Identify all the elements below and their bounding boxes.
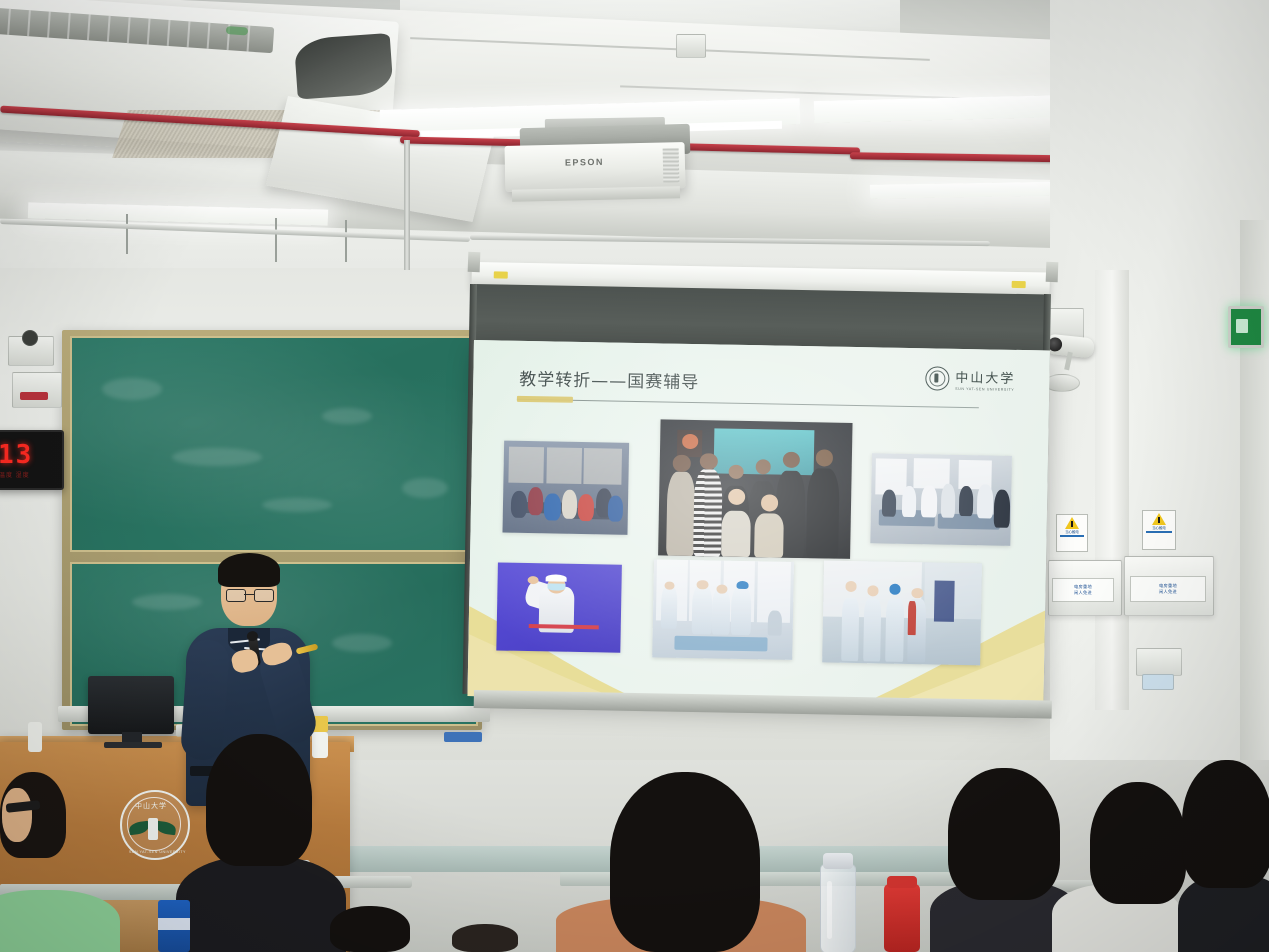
cabinet-sign-line2: 闲人免进 bbox=[1074, 590, 1092, 596]
logo-name-en: SUN YAT-SEN UNIVERSITY bbox=[955, 387, 1015, 392]
clock-sublabel: 温度 湿度 bbox=[0, 470, 30, 479]
glasses-icon bbox=[226, 589, 272, 600]
audience-shoulders bbox=[176, 856, 346, 952]
emblem-name-en: SUN YAT-SEN UNIVERSITY bbox=[129, 850, 186, 854]
projector-vent bbox=[663, 148, 680, 182]
audience-head bbox=[206, 734, 312, 866]
desk-item-box bbox=[444, 732, 482, 742]
fire-alarm-panel bbox=[12, 372, 62, 408]
slide-canvas: 教学转折——国赛辅导 中山大学 SUN YAT-SEN UNIVERSITY bbox=[467, 340, 1049, 706]
slide-photo-lineup bbox=[822, 560, 982, 665]
slide-photo-oath bbox=[496, 562, 622, 652]
projector-icon: EPSON bbox=[505, 142, 686, 192]
desk-item-cup bbox=[28, 722, 42, 752]
audience-head bbox=[330, 906, 410, 952]
warning-bar bbox=[1060, 535, 1085, 537]
ceiling-hanger bbox=[126, 214, 128, 254]
clock-digits: 13 bbox=[0, 440, 60, 470]
housing-tag bbox=[1012, 281, 1026, 288]
logo-name-cn: 中山大学 bbox=[955, 367, 1015, 387]
screen-bracket bbox=[1046, 262, 1059, 282]
warning-triangle-icon bbox=[1065, 517, 1079, 529]
blackboard-upper-panel bbox=[70, 336, 478, 552]
sysu-logo: 中山大学 SUN YAT-SEN UNIVERSITY bbox=[925, 366, 1015, 392]
warning-triangle-icon bbox=[1152, 513, 1166, 525]
audience-head bbox=[948, 768, 1060, 900]
slide-photo-ward bbox=[870, 453, 1012, 546]
audience-head bbox=[452, 924, 518, 952]
wall-label bbox=[1142, 674, 1174, 690]
lecture-hall-photo: 当心触电 当心触电 电房重地 闲人免进 电房重地 闲人免进 bbox=[0, 0, 1269, 952]
warning-label-text: 当心触电 bbox=[1065, 530, 1079, 534]
housing-tag bbox=[494, 271, 508, 278]
led-clock-icon: 13 温度 湿度 bbox=[0, 430, 64, 490]
sysu-seal-icon bbox=[925, 366, 949, 390]
logo-text-block: 中山大学 SUN YAT-SEN UNIVERSITY bbox=[955, 367, 1015, 392]
title-accent-bar bbox=[517, 396, 573, 403]
projection-screen: 教学转折——国赛辅导 中山大学 SUN YAT-SEN UNIVERSITY bbox=[467, 340, 1049, 706]
wall-column bbox=[1240, 220, 1269, 760]
high-voltage-warning-icon: 当心触电 bbox=[1056, 514, 1088, 552]
high-voltage-warning-icon: 当心触电 bbox=[1142, 510, 1176, 550]
ac-badge bbox=[226, 26, 249, 36]
audience-head bbox=[1182, 760, 1269, 888]
slide-photo-group bbox=[658, 419, 852, 558]
cabinet-sign-left: 电房重地 闲人免进 bbox=[1052, 578, 1114, 602]
monitor-base bbox=[104, 742, 162, 748]
monitor-icon bbox=[88, 676, 174, 734]
sensor-icon bbox=[22, 330, 38, 346]
audience-shoulders bbox=[0, 890, 120, 952]
slide-photo-classroom bbox=[502, 441, 629, 535]
audience-head bbox=[1090, 782, 1186, 904]
title-divider bbox=[517, 399, 979, 408]
ceiling-hanger bbox=[275, 218, 277, 262]
cabinet-sign-right: 电房重地 闲人免进 bbox=[1130, 576, 1206, 602]
wall-column bbox=[1095, 270, 1129, 710]
thermos-icon bbox=[884, 884, 920, 952]
desk-item-bottle bbox=[312, 732, 328, 758]
presenter-hair bbox=[218, 553, 280, 587]
slide-title: 教学转折——国赛辅导 bbox=[519, 365, 699, 393]
power-outlet bbox=[676, 34, 706, 58]
beverage-can-icon bbox=[158, 900, 190, 952]
cabinet-sign-line2: 闲人免进 bbox=[1159, 589, 1177, 595]
audience-face bbox=[2, 788, 32, 842]
water-bottle-icon bbox=[820, 864, 856, 952]
screen-bracket bbox=[468, 252, 481, 272]
projector-brand: EPSON bbox=[565, 157, 604, 168]
sysu-emblem-icon: 中山大学 SUN YAT-SEN UNIVERSITY bbox=[120, 790, 190, 860]
alarm-indicator bbox=[20, 392, 48, 400]
ac-vane bbox=[294, 33, 394, 100]
emblem-name-cn: 中山大学 bbox=[135, 801, 167, 811]
conduit-riser bbox=[404, 140, 410, 270]
wall-plate bbox=[1136, 648, 1182, 676]
ceiling-hanger bbox=[345, 220, 347, 262]
presenter-arm-left bbox=[180, 639, 230, 762]
warning-label-text: 当心触电 bbox=[1152, 526, 1166, 530]
audience-head bbox=[610, 772, 760, 952]
slide-photo-skills bbox=[652, 559, 794, 660]
exit-sign-icon bbox=[1228, 306, 1264, 348]
warning-bar bbox=[1146, 531, 1172, 533]
